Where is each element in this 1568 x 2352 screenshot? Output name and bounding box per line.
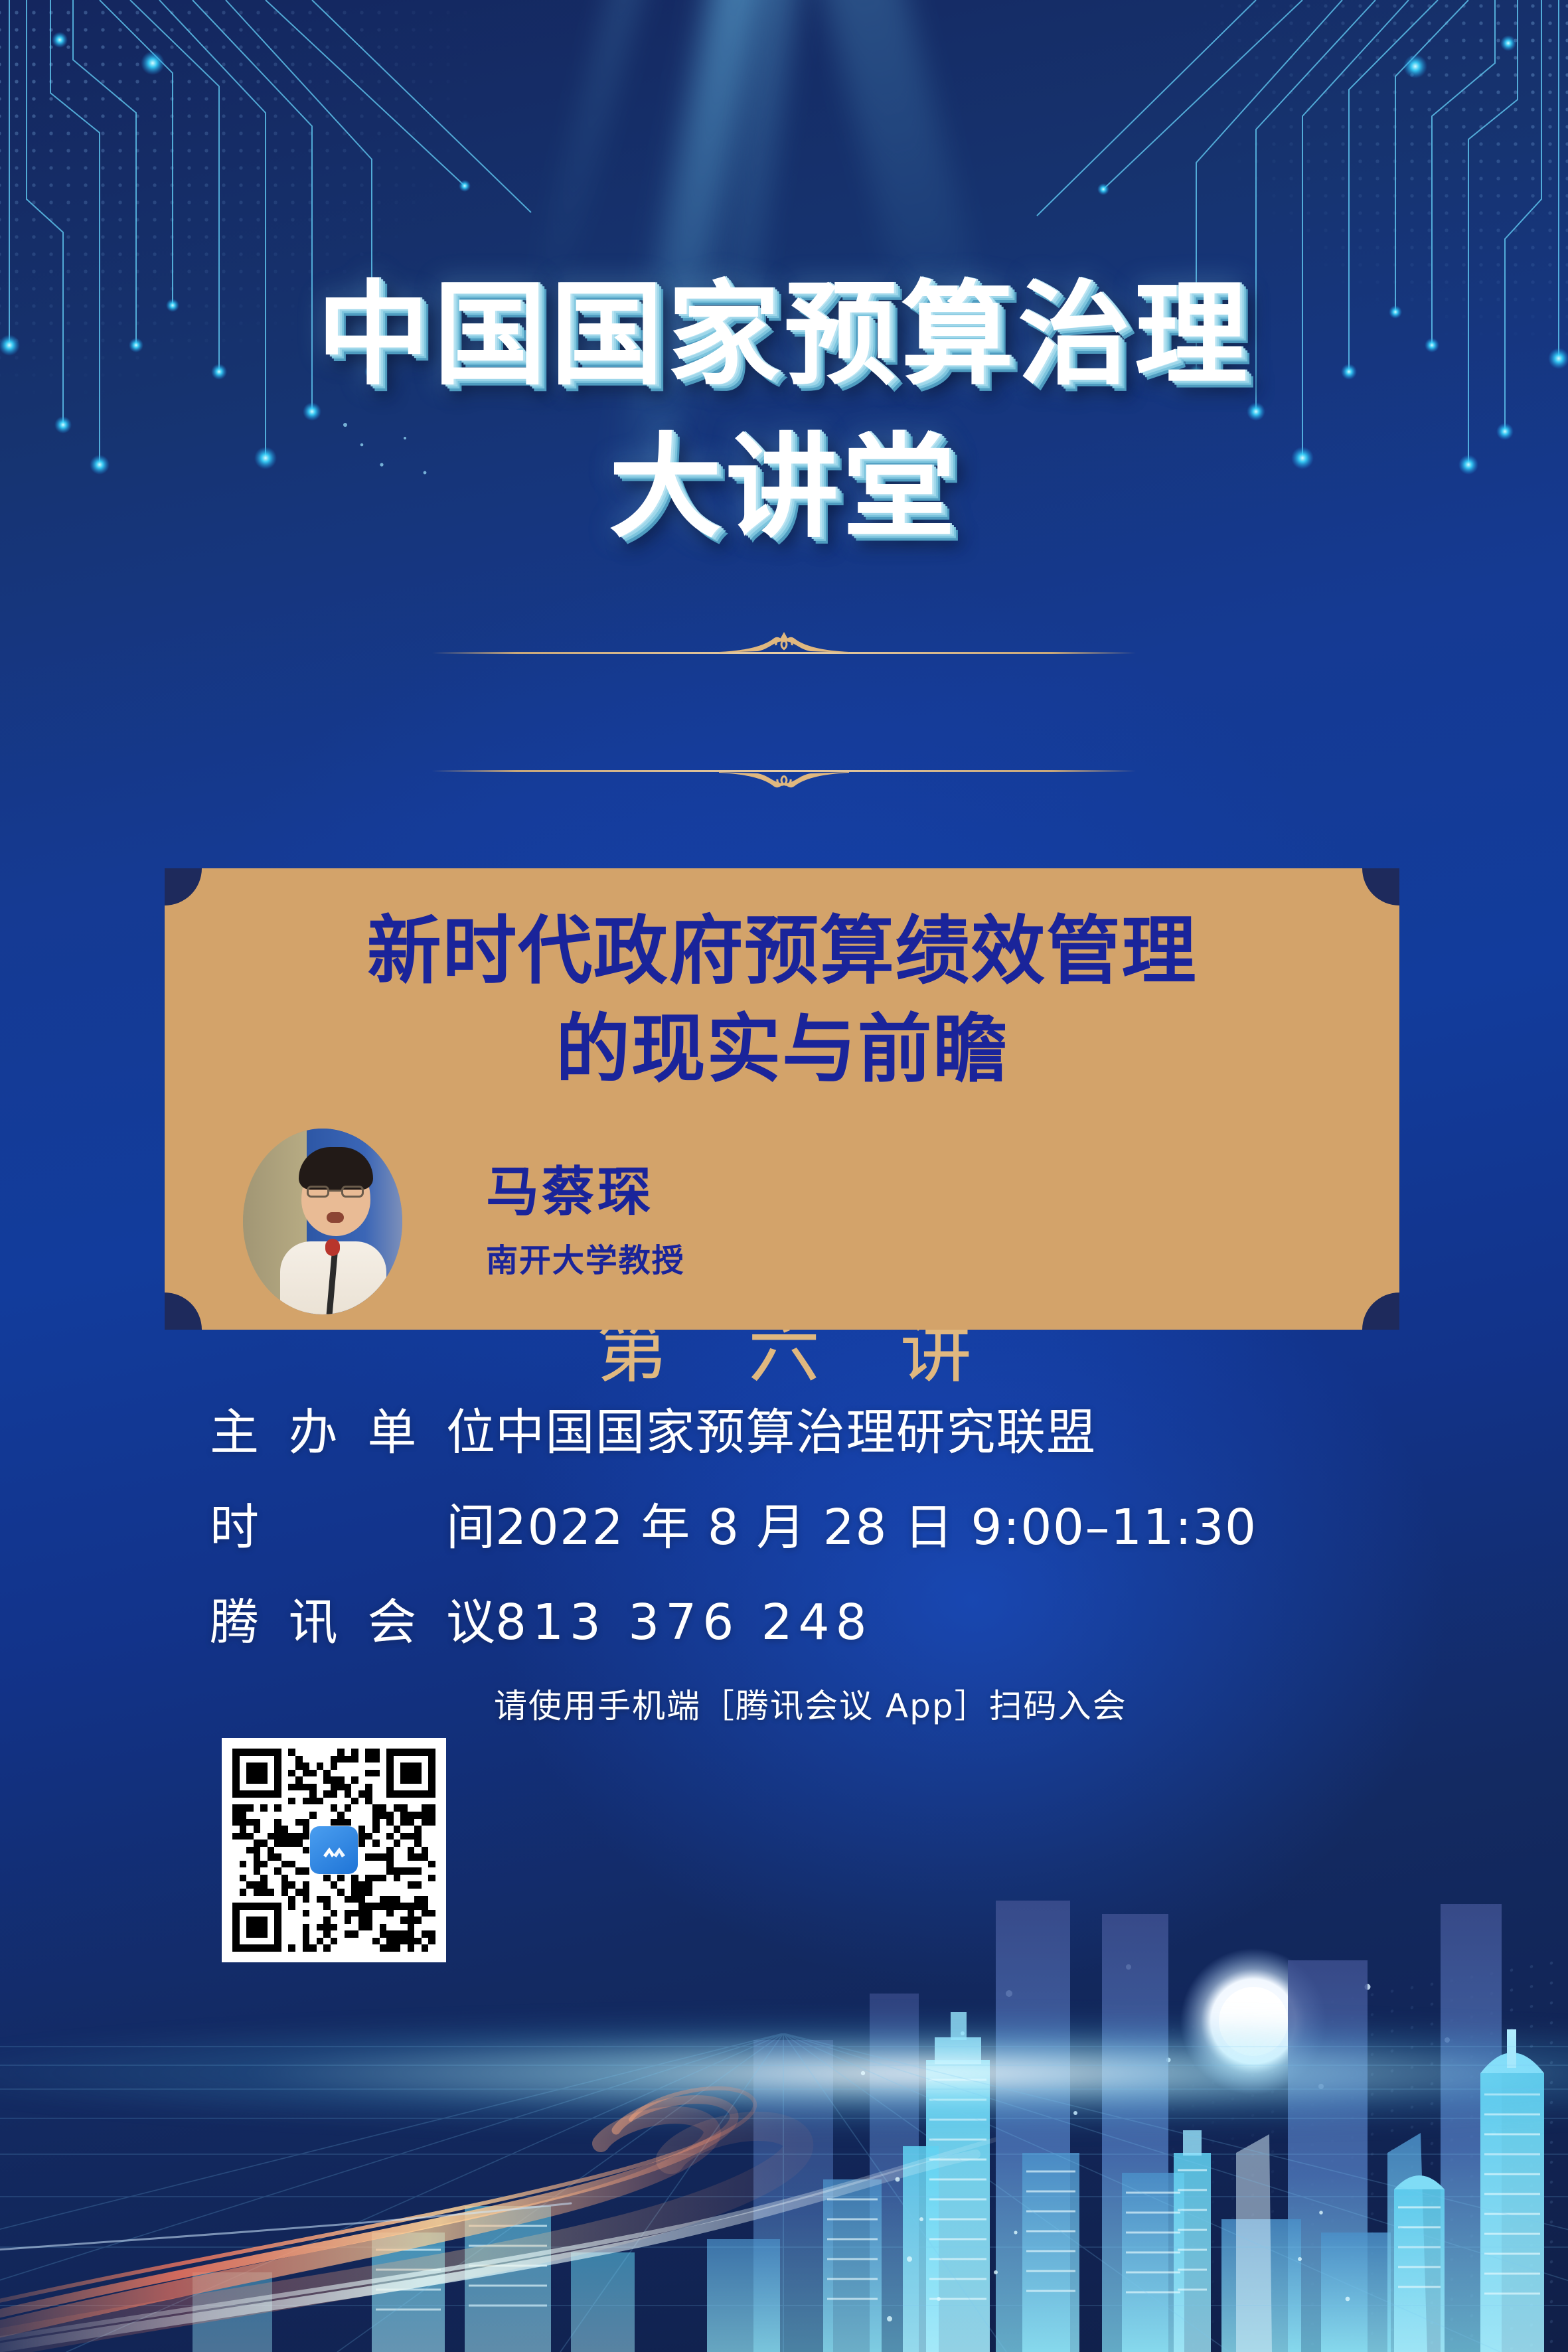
photo-glasses-left: [307, 1186, 329, 1198]
label-char: 单: [367, 1393, 416, 1464]
light-trail-graphic: [0, 1940, 996, 2352]
label-char: 腾: [210, 1583, 259, 1654]
poster-canvas: 中国国家预算治理 大讲堂 第 六 讲 新时代政府预算绩效管理 的现实与前瞻: [0, 0, 1568, 2352]
panel-corner-notch: [1362, 868, 1399, 905]
photo-glasses-right: [341, 1186, 364, 1198]
divider-rule-bottom: [432, 770, 1136, 772]
main-title-line-1: 中国国家预算治理: [0, 275, 1568, 395]
event-details: 主 办 单 位 中国国家预算治理研究联盟 时 间 2022 年 8 月 28 日…: [210, 1393, 1405, 1678]
halftone-dots-bottom-right: [1024, 1941, 1568, 2352]
divider-rule-top: [432, 652, 1136, 654]
time-label: 时 间: [210, 1488, 495, 1559]
photo-glasses-bridge: [329, 1190, 341, 1192]
detail-row-organizer: 主 办 单 位 中国国家预算治理研究联盟: [210, 1393, 1405, 1464]
qr-instruction-text: 请使用手机端［腾讯会议 App］扫码入会: [494, 1680, 1127, 1727]
label-char: 会: [367, 1583, 416, 1654]
panel-corner-notch: [165, 868, 202, 905]
label-char: 议: [446, 1583, 495, 1654]
time-value: 2022 年 8 月 28 日 9:00–11:30: [495, 1488, 1257, 1559]
main-title-line-2: 大讲堂: [0, 428, 1568, 548]
label-char: 讯: [289, 1583, 338, 1654]
speaker-name: 马蔡琛: [486, 1162, 685, 1222]
ornament-bottom-icon: [718, 769, 850, 795]
avatar: [243, 1129, 402, 1314]
organizer-value: 中国国家预算治理研究联盟: [495, 1393, 1097, 1464]
meeting-id-value: 813 376 248: [495, 1594, 872, 1651]
lecture-title-line-1: 新时代政府预算绩效管理: [165, 903, 1399, 1001]
speaker-row: 马蔡琛 南开大学教授: [165, 1129, 1399, 1314]
speaker-affiliation: 南开大学教授: [486, 1234, 685, 1281]
label-char: 办: [289, 1393, 338, 1464]
photo-mouth: [327, 1212, 344, 1223]
detail-row-time: 时 间 2022 年 8 月 28 日 9:00–11:30: [210, 1488, 1405, 1559]
detail-row-meeting: 腾 讯 会 议 813 376 248: [210, 1583, 1405, 1654]
label-char: 间: [446, 1488, 495, 1559]
photo-microphone-head: [325, 1239, 340, 1256]
lecture-title-line-2: 的现实与前瞻: [165, 1001, 1399, 1099]
meeting-label: 腾 讯 会 议: [210, 1583, 495, 1654]
lecture-title-panel: 新时代政府预算绩效管理 的现实与前瞻 马蔡琛 南开大学教授: [165, 868, 1399, 1330]
lecture-title: 新时代政府预算绩效管理 的现实与前瞻: [165, 903, 1399, 1099]
organizer-label: 主 办 单 位: [210, 1393, 495, 1464]
speaker-info: 马蔡琛 南开大学教授: [486, 1162, 685, 1281]
label-char: 时: [210, 1488, 259, 1559]
label-char: 位: [446, 1393, 495, 1464]
label-char: 主: [210, 1393, 259, 1464]
qr-code[interactable]: [222, 1738, 446, 1962]
tencent-meeting-logo-icon: [310, 1826, 358, 1874]
